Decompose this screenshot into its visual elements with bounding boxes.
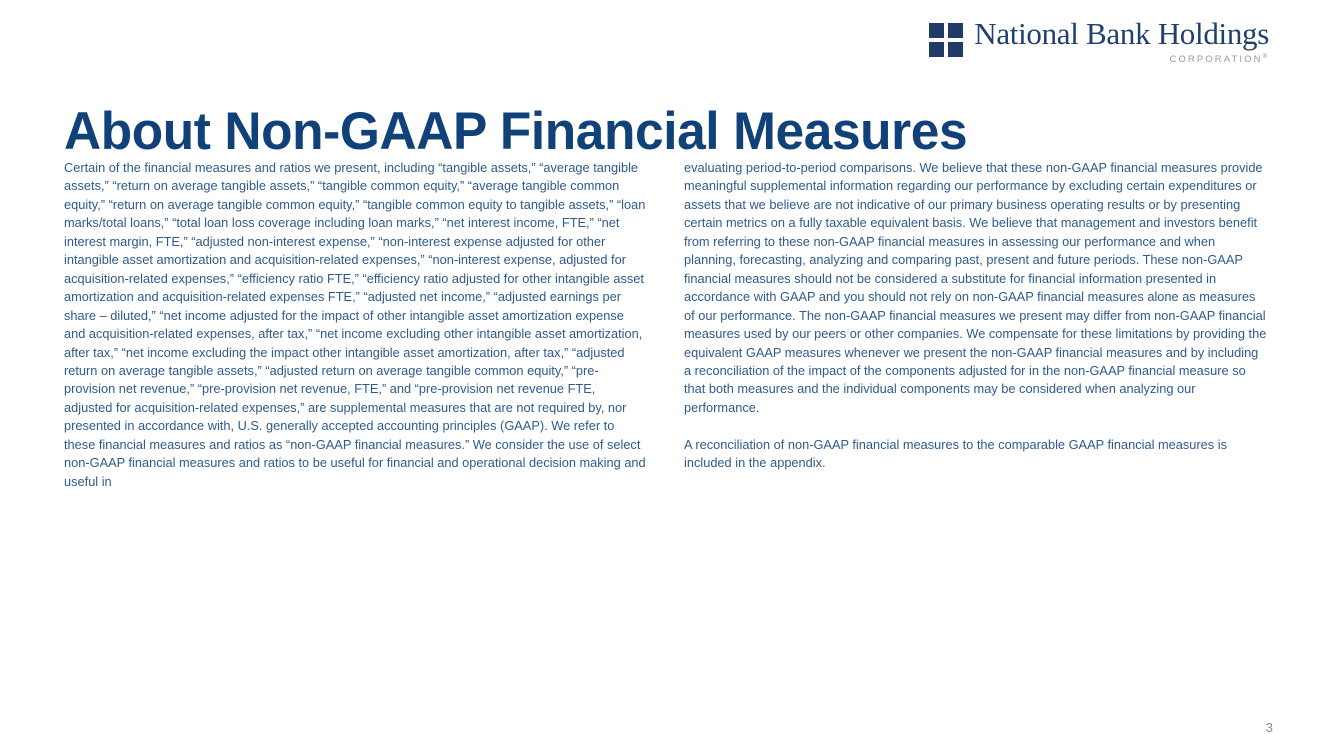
logo-square-bottom-right [948, 42, 963, 57]
page-title: About Non-GAAP Financial Measures [64, 104, 967, 160]
logo-sub-wordmark: CORPORATION® [1169, 54, 1267, 65]
four-square-grid-icon [929, 23, 963, 57]
left-column: Certain of the financial measures and ra… [64, 159, 647, 491]
paragraph: evaluating period-to-period comparisons.… [684, 159, 1267, 417]
slide: National Bank Holdings CORPORATION® Abou… [0, 0, 1333, 749]
logo-square-top-right [948, 23, 963, 38]
company-logo: National Bank Holdings CORPORATION® [929, 18, 1269, 64]
paragraph: Certain of the financial measures and ra… [64, 159, 647, 491]
logo-square-top-left [929, 23, 944, 38]
logo-wordmark: National Bank Holdings [974, 18, 1269, 51]
logo-text-block: National Bank Holdings CORPORATION® [974, 18, 1269, 64]
page-number: 3 [1266, 720, 1273, 735]
body-columns: Certain of the financial measures and ra… [64, 159, 1269, 491]
paragraph: A reconciliation of non-GAAP financial m… [684, 436, 1267, 473]
logo-sub-text: CORPORATION [1169, 54, 1262, 65]
logo-square-bottom-left [929, 42, 944, 57]
registered-mark-icon: ® [1263, 54, 1267, 60]
right-column: evaluating period-to-period comparisons.… [684, 159, 1267, 491]
